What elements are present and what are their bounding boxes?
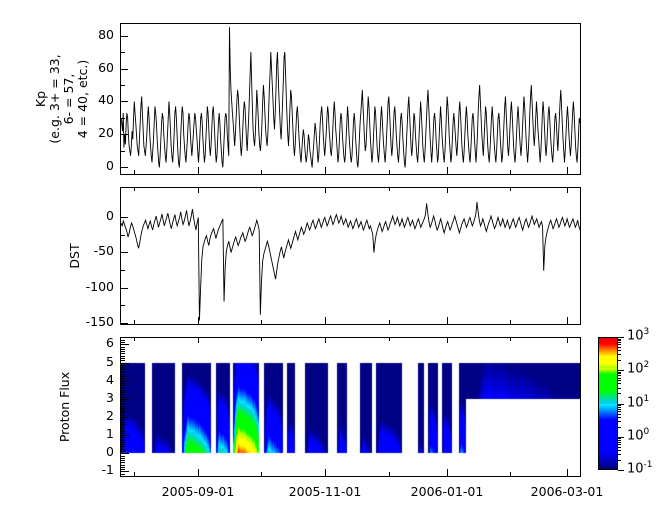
colorbar-minor-tick: [618, 393, 621, 394]
pf-y-minor-tick: [121, 451, 125, 452]
pf-y-minor-tick: [121, 372, 125, 373]
pf-y-tick-label: 6: [68, 337, 114, 350]
colorbar-tick-label: 101: [627, 395, 649, 409]
x-minor-tick-top: [134, 188, 135, 191]
kp-y-tick-label: 20: [68, 127, 114, 140]
colorbar-minor-tick: [618, 407, 621, 408]
pf-y-minor-tick: [121, 387, 125, 388]
pf-y-minor-tick: [121, 394, 125, 395]
pf-y-minor-tick: [121, 410, 125, 411]
pf-y-minor-tick: [121, 471, 125, 472]
x-major-tick: [447, 469, 448, 476]
pf-y-minor-tick: [121, 344, 125, 345]
x-minor-tick-top: [389, 188, 390, 191]
pf-y-minor-tick: [121, 383, 125, 384]
colorbar-minor-tick: [618, 378, 621, 379]
kp-y-minor-tick: [121, 85, 125, 86]
colorbar-minor-tick: [618, 427, 621, 428]
x-minor-tick-top: [134, 338, 135, 341]
pf-y-minor-tick: [121, 415, 125, 416]
x-minor-tick: [510, 170, 511, 174]
pf-y-tick-label: 4: [68, 374, 114, 387]
colorbar-minor-tick: [618, 354, 621, 355]
pf-y-tick-label: 0: [68, 446, 114, 459]
x-minor-tick: [389, 170, 390, 174]
colorbar-tick-label: 10-1: [627, 461, 653, 475]
pf-y-minor-tick: [121, 465, 125, 466]
pf-y-minor-tick: [121, 460, 125, 461]
pf-y-minor-tick: [121, 390, 125, 391]
pf-y-minor-tick: [121, 446, 125, 447]
pf-y-minor-tick: [121, 353, 125, 354]
x-minor-tick: [510, 320, 511, 324]
x-major-tick-top: [567, 338, 568, 343]
pf-y-minor-tick: [121, 458, 125, 459]
pf-y-minor-tick: [121, 403, 125, 404]
colorbar-major-tick: [618, 470, 624, 471]
pf-y-minor-tick: [121, 428, 125, 429]
colorbar-tick-label: 100: [627, 428, 649, 442]
x-major-tick-top: [325, 188, 326, 193]
colorbar-minor-tick: [618, 421, 621, 422]
pf-y-minor-tick: [121, 431, 125, 432]
colorbar-minor-tick: [618, 440, 621, 441]
pf-y-minor-tick: [121, 374, 125, 375]
pf-y-minor-tick: [121, 406, 125, 407]
pf-y-minor-tick: [121, 401, 125, 402]
dst-y-major-tick: [121, 288, 128, 289]
x-major-tick: [567, 317, 568, 324]
kp-y-tick-label: 60: [68, 62, 114, 75]
x-major-tick-top: [198, 338, 199, 343]
x-minor-tick: [510, 472, 511, 476]
colorbar-minor-tick: [618, 347, 621, 348]
colorbar-minor-tick: [618, 414, 621, 415]
pf-y-minor-tick: [121, 417, 125, 418]
pf-y-minor-tick: [121, 367, 125, 368]
colorbar-minor-tick: [618, 405, 621, 406]
pf-y-minor-tick: [121, 442, 125, 443]
x-minor-tick: [261, 320, 262, 324]
pf-y-minor-tick: [121, 412, 125, 413]
colorbar-minor-tick: [618, 450, 621, 451]
x-minor-tick-top: [510, 188, 511, 191]
kp-y-minor-tick: [121, 151, 125, 152]
dst-y-tick-label: 0: [68, 210, 114, 223]
x-major-tick-top: [567, 188, 568, 193]
kp-y-minor-tick: [121, 52, 125, 53]
dst-y-minor-tick: [121, 305, 125, 306]
x-minor-tick: [134, 170, 135, 174]
pf-y-tick-label: 5: [68, 356, 114, 369]
dst-y-tick-label: -50: [68, 245, 114, 258]
pf-y-minor-tick: [121, 349, 125, 350]
pf-y-minor-tick: [121, 360, 125, 361]
x-major-tick-top: [447, 338, 448, 343]
kp-y-tick-label: 40: [68, 94, 114, 107]
colorbar-minor-tick: [618, 417, 621, 418]
x-major-tick-top: [447, 188, 448, 193]
pf-y-minor-tick: [121, 356, 125, 357]
pf-y-minor-tick: [121, 462, 125, 463]
pf-y-minor-tick: [121, 453, 125, 454]
kp-y-major-tick: [121, 36, 128, 37]
colorbar-major-tick: [618, 337, 624, 338]
pf-y-minor-tick: [121, 340, 125, 341]
pf-y-minor-tick: [121, 392, 125, 393]
x-minor-tick: [389, 320, 390, 324]
x-major-tick: [325, 167, 326, 174]
pf-y-minor-tick: [121, 378, 125, 379]
pf-y-minor-tick: [121, 376, 125, 377]
kp-y-tick-label: 0: [68, 160, 114, 173]
pf-y-minor-tick: [121, 467, 125, 468]
kp-y-minor-tick: [121, 118, 125, 119]
pf-y-minor-tick: [121, 342, 125, 343]
x-major-tick: [447, 317, 448, 324]
dst-y-major-tick: [121, 323, 128, 324]
colorbar-minor-tick: [618, 442, 621, 443]
dst-y-minor-tick: [121, 235, 125, 236]
colorbar-tick-label: 103: [627, 328, 649, 342]
colorbar-minor-tick: [618, 350, 621, 351]
kp-y-major-tick: [121, 134, 128, 135]
x-major-tick: [325, 317, 326, 324]
pf-y-minor-tick: [121, 424, 125, 425]
x-major-tick: [567, 469, 568, 476]
kp-y-major-tick: [121, 101, 128, 102]
dst-y-major-tick: [121, 252, 128, 253]
colorbar-minor-tick: [618, 372, 621, 373]
x-tick-label: 2006-03-01: [512, 486, 622, 499]
dst-y-major-tick: [121, 217, 128, 218]
x-major-tick: [198, 469, 199, 476]
pf-y-tick-label: -1: [68, 464, 114, 477]
x-minor-tick: [389, 472, 390, 476]
pf-y-minor-tick: [121, 449, 125, 450]
dst-y-minor-tick: [121, 270, 125, 271]
colorbar-minor-tick: [618, 454, 621, 455]
pf-y-tick-label: 1: [68, 428, 114, 441]
x-tick-label: 2005-11-01: [270, 486, 380, 499]
pf-y-minor-tick: [121, 397, 125, 398]
x-major-tick-top: [198, 188, 199, 193]
pf-y-minor-tick: [121, 399, 125, 400]
colorbar-minor-tick: [618, 380, 621, 381]
pf-y-minor-tick: [121, 351, 125, 352]
pf-y-tick-label: 2: [68, 410, 114, 423]
colorbar-minor-tick: [618, 388, 621, 389]
pf-y-minor-tick: [121, 408, 125, 409]
x-minor-tick-top: [261, 338, 262, 341]
pf-y-minor-tick: [121, 444, 125, 445]
pf-y-minor-tick: [121, 385, 125, 386]
pf-y-minor-tick: [121, 456, 125, 457]
pf-y-minor-tick: [121, 363, 125, 364]
x-minor-tick-top: [261, 188, 262, 191]
pf-y-minor-tick: [121, 369, 125, 370]
dst-y-tick-label: -100: [68, 281, 114, 294]
pf-y-minor-tick: [121, 474, 125, 475]
colorbar-minor-tick: [618, 383, 621, 384]
colorbar-minor-tick: [618, 447, 621, 448]
x-minor-tick-top: [389, 338, 390, 341]
colorbar-minor-tick: [618, 409, 621, 410]
colorbar-minor-tick: [618, 373, 621, 374]
x-minor-tick-top: [510, 338, 511, 341]
colorbar-minor-tick: [618, 460, 621, 461]
x-major-tick: [567, 167, 568, 174]
x-minor-tick: [261, 170, 262, 174]
x-tick-label: 2005-09-01: [143, 486, 253, 499]
colorbar-minor-tick: [618, 411, 621, 412]
colorbar-minor-tick: [618, 444, 621, 445]
x-major-tick: [447, 167, 448, 174]
colorbar-minor-tick: [618, 339, 621, 340]
colorbar-major-tick: [618, 370, 624, 371]
kp-y-major-tick: [121, 167, 128, 168]
pf-y-minor-tick: [121, 419, 125, 420]
x-major-tick: [325, 469, 326, 476]
dst-y-tick-label: -150: [68, 316, 114, 329]
colorbar-minor-tick: [618, 375, 621, 376]
pf-y-minor-tick: [121, 440, 125, 441]
x-major-tick: [198, 317, 199, 324]
colorbar-minor-tick: [618, 340, 621, 341]
colorbar-tick-label: 102: [627, 361, 649, 375]
pf-y-minor-tick: [121, 437, 125, 438]
colorbar-minor-tick: [618, 342, 621, 343]
x-major-tick-top: [325, 338, 326, 343]
pf-y-tick-label: 3: [68, 392, 114, 405]
kp-y-tick-label: 80: [68, 29, 114, 42]
x-minor-tick: [261, 472, 262, 476]
x-minor-tick: [134, 320, 135, 324]
colorbar-minor-tick: [618, 344, 621, 345]
x-minor-tick: [134, 472, 135, 476]
tick-layer: 0204060800-50-100-150-101234562005-09-01…: [0, 0, 665, 523]
pf-y-minor-tick: [121, 433, 125, 434]
pf-y-minor-tick: [121, 347, 125, 348]
figure-root: Kp(e.g. 3+ = 33,6- = 57,4 = 40, etc.) DS…: [0, 0, 665, 523]
pf-y-minor-tick: [121, 435, 125, 436]
kp-y-major-tick: [121, 69, 128, 70]
pf-y-minor-tick: [121, 358, 125, 359]
x-major-tick: [198, 167, 199, 174]
pf-y-minor-tick: [121, 381, 125, 382]
pf-y-minor-tick: [121, 469, 125, 470]
colorbar-minor-tick: [618, 360, 621, 361]
pf-y-minor-tick: [121, 426, 125, 427]
pf-y-minor-tick: [121, 422, 125, 423]
pf-y-minor-tick: [121, 365, 125, 366]
colorbar-minor-tick: [618, 438, 621, 439]
x-tick-label: 2006-01-01: [392, 486, 502, 499]
